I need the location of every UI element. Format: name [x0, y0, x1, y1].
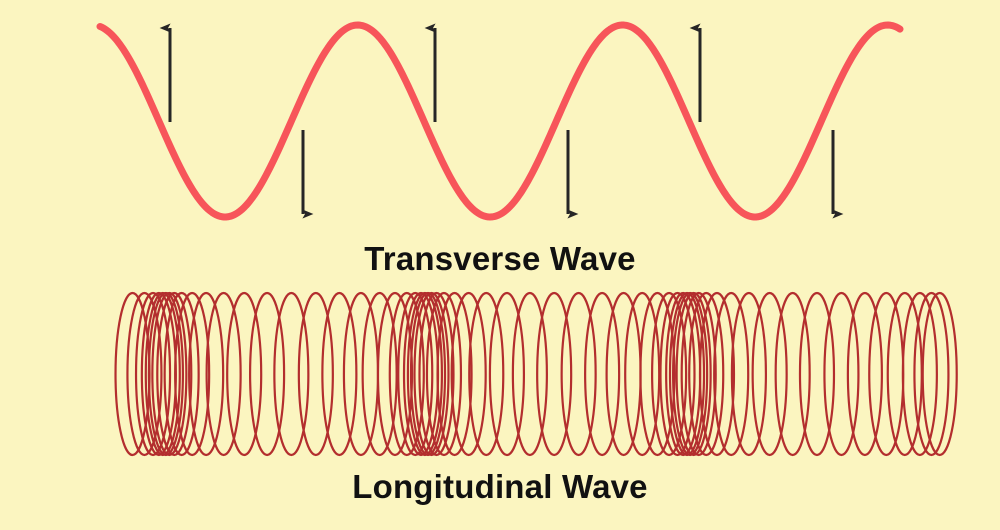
- coil-loop: [363, 293, 397, 455]
- coil-loop: [888, 293, 922, 455]
- coil-loop: [322, 293, 356, 455]
- longitudinal-wave-label: Longitudinal Wave: [0, 468, 1000, 506]
- transverse-wave-group: [100, 25, 900, 217]
- coil-loop: [585, 293, 619, 455]
- coil-loop: [227, 293, 261, 455]
- coil-loop: [344, 293, 378, 455]
- transverse-sine-curve: [100, 25, 900, 217]
- coil-loop: [625, 293, 659, 455]
- longitudinal-wave-group: [116, 293, 957, 455]
- wave-diagram: Transverse Wave Longitudinal Wave: [0, 0, 1000, 530]
- coil-loop: [607, 293, 641, 455]
- coil-loop: [923, 293, 957, 455]
- vibration-arrows-group: [170, 28, 833, 214]
- coil-loop: [848, 293, 882, 455]
- transverse-wave-label: Transverse Wave: [0, 240, 1000, 278]
- coil-loop: [869, 293, 903, 455]
